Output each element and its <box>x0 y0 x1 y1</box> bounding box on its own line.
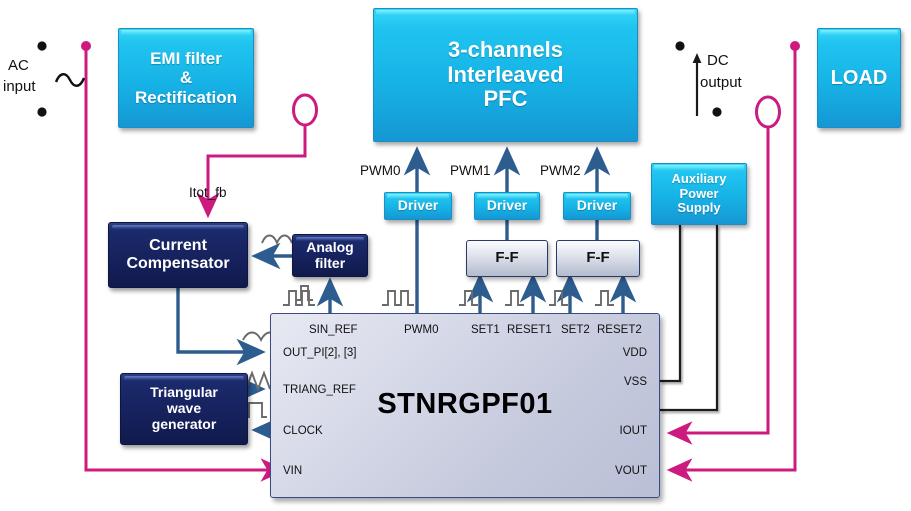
af-line2: filter <box>306 256 353 272</box>
driver-0-label: Driver <box>398 198 438 214</box>
dc-bus-junction-top <box>675 41 684 50</box>
cc-line1: Current <box>126 237 229 255</box>
dc-output-label-line1: DC <box>707 52 729 69</box>
vin-sense-tap-dot <box>81 41 91 51</box>
ff-2-label: F-F <box>586 250 609 267</box>
af-line1: Analog <box>306 240 353 256</box>
block-driver-0[interactable]: Driver <box>384 192 452 220</box>
pin-sin-ref: SIN_REF <box>309 324 358 336</box>
pin-vin: VIN <box>283 465 302 477</box>
block-stnrgpf01-mcu[interactable]: STNRGPF01 SIN_REF PWM0 SET1 RESET1 SET2 … <box>270 313 660 498</box>
pin-pwm0-top: PWM0 <box>404 324 439 336</box>
pin-vss: VSS <box>624 376 647 388</box>
ac-terminal-dot-bottom <box>37 107 46 116</box>
aux-line2: Power <box>672 187 727 202</box>
block-emi-filter-rectification[interactable]: EMI filter & Rectification <box>118 28 254 128</box>
block-flipflop-2[interactable]: F-F <box>556 240 640 277</box>
pin-triang-ref: TRIANG_REF <box>283 384 356 396</box>
dc-output-label-line2: output <box>700 74 742 91</box>
label-pwm2: PWM2 <box>540 163 581 178</box>
aux-line3: Supply <box>672 201 727 216</box>
block-current-compensator[interactable]: Current Compensator <box>108 222 248 288</box>
pin-out-pi: OUT_PI[2], [3] <box>283 347 357 359</box>
emi-line3: Rectification <box>135 88 237 107</box>
output-current-sense-loop <box>757 97 780 127</box>
pin-clock: CLOCK <box>283 425 323 437</box>
label-itot-fb: Itot_fb <box>189 185 227 200</box>
block-load[interactable]: LOAD <box>817 28 901 128</box>
ac-input-label-line1: AC <box>8 57 29 74</box>
load-label: LOAD <box>831 67 888 89</box>
block-analog-filter[interactable]: Analog filter <box>292 234 368 277</box>
label-pwm1: PWM1 <box>450 163 491 178</box>
pin-iout: IOUT <box>620 425 647 437</box>
pin-reset2: RESET2 <box>597 324 642 336</box>
input-current-sense-loop <box>294 95 317 125</box>
block-auxiliary-power-supply[interactable]: Auxiliary Power Supply <box>651 163 747 225</box>
cc-line2: Compensator <box>126 255 229 273</box>
ac-source-sine-icon <box>56 74 84 86</box>
driver-2-label: Driver <box>577 198 617 214</box>
ff-1-label: F-F <box>495 250 518 267</box>
driver-1-label: Driver <box>487 198 527 214</box>
ac-terminal-dot-top <box>37 41 46 50</box>
block-triangular-wave-generator[interactable]: Triangular wave generator <box>120 373 248 445</box>
pfc-line3: PFC <box>447 87 563 112</box>
pin-vdd: VDD <box>623 347 647 359</box>
pin-reset1: RESET1 <box>507 324 552 336</box>
block-diagram-canvas: AC input EMI filter & Rectification 3-ch… <box>0 0 911 511</box>
pin-set1: SET1 <box>471 324 500 336</box>
ac-input-label-line2: input <box>3 78 36 95</box>
pin-vout: VOUT <box>615 465 647 477</box>
emi-line2: & <box>135 68 237 87</box>
pfc-line1: 3-channels <box>447 38 563 63</box>
pin-set2: SET2 <box>561 324 590 336</box>
label-pwm0: PWM0 <box>360 163 401 178</box>
tw-line1: Triangular <box>150 385 218 401</box>
tw-line2: wave <box>150 401 218 417</box>
block-driver-1[interactable]: Driver <box>474 192 540 220</box>
vout-sense-tap-dot <box>790 41 800 51</box>
block-flipflop-1[interactable]: F-F <box>466 240 548 277</box>
block-driver-2[interactable]: Driver <box>563 192 631 220</box>
aux-line1: Auxiliary <box>672 172 727 187</box>
emi-line1: EMI filter <box>135 49 237 68</box>
tw-line3: generator <box>150 417 218 433</box>
block-interleaved-pfc[interactable]: 3-channels Interleaved PFC <box>373 8 638 142</box>
dc-bus-junction-bottom <box>712 107 721 116</box>
pfc-line2: Interleaved <box>447 63 563 88</box>
